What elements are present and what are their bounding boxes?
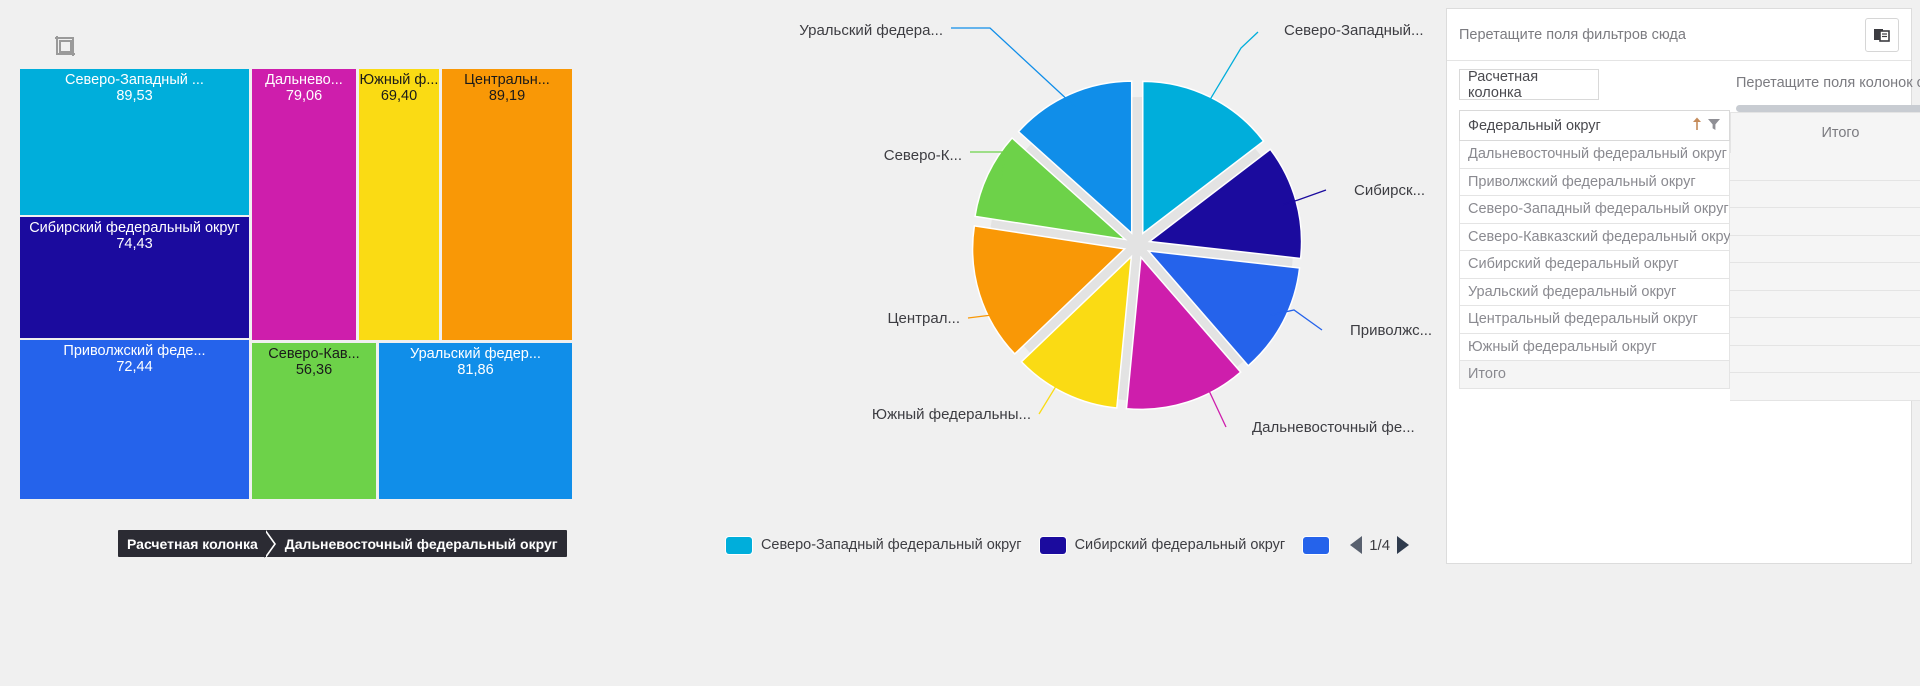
pivot-row-value[interactable] <box>1730 318 1920 346</box>
pivot-value-list <box>1730 153 1920 401</box>
treemap-cell[interactable]: Дальнево...79,06 <box>251 68 357 341</box>
pivot-row-label[interactable]: Северо-Кавказский федеральный округ <box>1459 224 1730 252</box>
pie-slice-label: Сибирск... <box>1354 182 1425 199</box>
treemap-cell-label: Северо-Западный ... <box>20 69 249 88</box>
sort-asc-icon[interactable] <box>1691 116 1703 136</box>
chevron-right-icon[interactable] <box>1397 536 1409 554</box>
treemap-cell-value: 79,06 <box>252 88 356 104</box>
field-chip-icons <box>1691 116 1721 136</box>
pivot-row-value[interactable] <box>1730 208 1920 236</box>
pivot-body: Расчетная колонка Федеральный округ <box>1447 61 1911 401</box>
treemap-cell-value: 72,44 <box>20 359 249 375</box>
treemap-cell-label: Южный ф... <box>359 69 439 88</box>
column-dropzone[interactable]: Перетащите поля колонок сюда <box>1730 61 1920 105</box>
pivot-row-label[interactable]: Сибирский федеральный округ <box>1459 251 1730 279</box>
pivot-columns-area: Перетащите поля колонок сюда Итого <box>1730 61 1920 401</box>
pivot-row-value[interactable] <box>1730 181 1920 209</box>
breadcrumb-member[interactable]: Дальневосточный федеральный округ <box>281 530 567 557</box>
pivot-row-label[interactable]: Приволжский федеральный округ <box>1459 169 1730 197</box>
chevron-left-icon[interactable] <box>1350 536 1362 554</box>
pie-leader-line <box>951 28 1075 107</box>
funnel-icon[interactable] <box>1707 116 1721 136</box>
chart-legend: Северо-Западный федеральный округ Сибирс… <box>690 525 1445 565</box>
pivot-row-label[interactable]: Южный федеральный округ <box>1459 334 1730 362</box>
pivot-row-value[interactable] <box>1730 263 1920 291</box>
column-dropzone-placeholder: Перетащите поля колонок сюда <box>1736 75 1920 91</box>
treemap-cell-value: 81,86 <box>379 362 572 378</box>
pivot-total-row-value[interactable] <box>1730 373 1920 401</box>
treemap-cell[interactable]: Приволжский феде...72,44 <box>19 339 250 500</box>
treemap-cell-label: Дальнево... <box>252 69 356 88</box>
pie-slice-label: Северо-К... <box>884 147 962 164</box>
pivot-row-label[interactable]: Северо-Западный федеральный округ <box>1459 196 1730 224</box>
treemap-cell-label: Северо-Кав... <box>252 343 376 362</box>
pie-slice-label: Дальневосточный фе... <box>1252 419 1415 436</box>
crop-icon[interactable] <box>52 33 78 59</box>
pivot-total-row-label[interactable]: Итого <box>1459 361 1730 389</box>
treemap-panel: Северо-Западный ...89,53Сибирский федера… <box>0 0 700 530</box>
field-chip-row[interactable]: Федеральный округ <box>1459 110 1730 141</box>
treemap-cell-value: 56,36 <box>252 362 376 378</box>
treemap-cell-label: Уральский федер... <box>379 343 572 362</box>
horizontal-scrollbar[interactable] <box>1736 105 1920 112</box>
treemap-cell[interactable]: Северо-Западный ...89,53 <box>19 68 250 216</box>
treemap-cell[interactable]: Уральский федер...81,86 <box>378 342 573 500</box>
treemap-cell-value: 69,40 <box>359 88 439 104</box>
legend-pagination: 1/4 <box>1350 536 1409 554</box>
copy-icon[interactable] <box>1865 18 1899 52</box>
treemap-cell-label: Центральн... <box>442 69 572 88</box>
treemap-cell[interactable]: Центральн...89,19 <box>441 68 573 341</box>
column-header-total-label: Итого <box>1821 125 1859 141</box>
pie-chart-panel: Северо-Западный...Сибирск...Приволжс...Д… <box>690 0 1445 580</box>
treemap-cell-value: 89,19 <box>442 88 572 104</box>
breadcrumb: Расчетная колонка Дальневосточный федера… <box>118 530 567 557</box>
filter-dropzone-placeholder: Перетащите поля фильтров сюда <box>1459 27 1865 43</box>
legend-swatch <box>1303 537 1329 554</box>
pie-slice-label: Приволжс... <box>1350 322 1432 339</box>
pivot-row-value[interactable] <box>1730 236 1920 264</box>
pie-slice-label: Централ... <box>887 310 960 327</box>
legend-item[interactable]: Сибирский федеральный округ <box>1040 537 1286 554</box>
pie-chart[interactable]: Северо-Западный...Сибирск...Приволжс...Д… <box>690 0 1445 525</box>
treemap-cell-label: Сибирский федеральный округ <box>20 217 249 236</box>
pivot-table-panel: Перетащите поля фильтров сюда Расчетная … <box>1446 8 1912 564</box>
pie-slice-label: Северо-Западный... <box>1284 22 1424 39</box>
pie-slice-label: Южный федеральны... <box>872 406 1031 423</box>
breadcrumb-measure[interactable]: Расчетная колонка <box>118 530 267 557</box>
breadcrumb-separator-icon <box>267 530 281 557</box>
legend-swatch <box>1040 537 1066 554</box>
legend-item[interactable]: Северо-Западный федеральный округ <box>726 537 1022 554</box>
legend-item[interactable] <box>1303 537 1338 554</box>
pivot-row-label[interactable]: Центральный федеральный округ <box>1459 306 1730 334</box>
pivot-rows-area: Расчетная колонка Федеральный округ <box>1447 61 1730 401</box>
treemap-cell[interactable]: Южный ф...69,40 <box>358 68 440 341</box>
legend-label: Северо-Западный федеральный округ <box>761 537 1022 553</box>
filter-dropzone[interactable]: Перетащите поля фильтров сюда <box>1447 9 1911 61</box>
pivot-row-label[interactable]: Дальневосточный федеральный округ <box>1459 141 1730 169</box>
pivot-row-value[interactable] <box>1730 291 1920 319</box>
pie-slice-label: Уральский федера... <box>799 22 943 39</box>
treemap-cell-label: Приволжский феде... <box>20 340 249 359</box>
treemap-cell-value: 89,53 <box>20 88 249 104</box>
treemap-cell[interactable]: Сибирский федеральный округ74,43 <box>19 216 250 339</box>
treemap-cell-value: 74,43 <box>20 236 249 252</box>
pivot-row-value[interactable] <box>1730 346 1920 374</box>
pivot-row-list: Дальневосточный федеральный округПриволж… <box>1459 141 1730 389</box>
field-chip-measure[interactable]: Расчетная колонка <box>1459 69 1599 100</box>
legend-page-indicator: 1/4 <box>1369 537 1390 554</box>
column-header-total[interactable]: Итого <box>1730 112 1920 153</box>
treemap-cell[interactable]: Северо-Кав...56,36 <box>251 342 377 500</box>
legend-label: Сибирский федеральный округ <box>1075 537 1286 553</box>
treemap-chart[interactable]: Северо-Западный ...89,53Сибирский федера… <box>19 68 673 500</box>
legend-swatch <box>726 537 752 554</box>
pivot-row-value[interactable] <box>1730 153 1920 181</box>
pivot-row-label[interactable]: Уральский федеральный округ <box>1459 279 1730 307</box>
field-chip-measure-label: Расчетная колонка <box>1468 69 1590 101</box>
field-chip-row-label: Федеральный округ <box>1468 118 1601 134</box>
